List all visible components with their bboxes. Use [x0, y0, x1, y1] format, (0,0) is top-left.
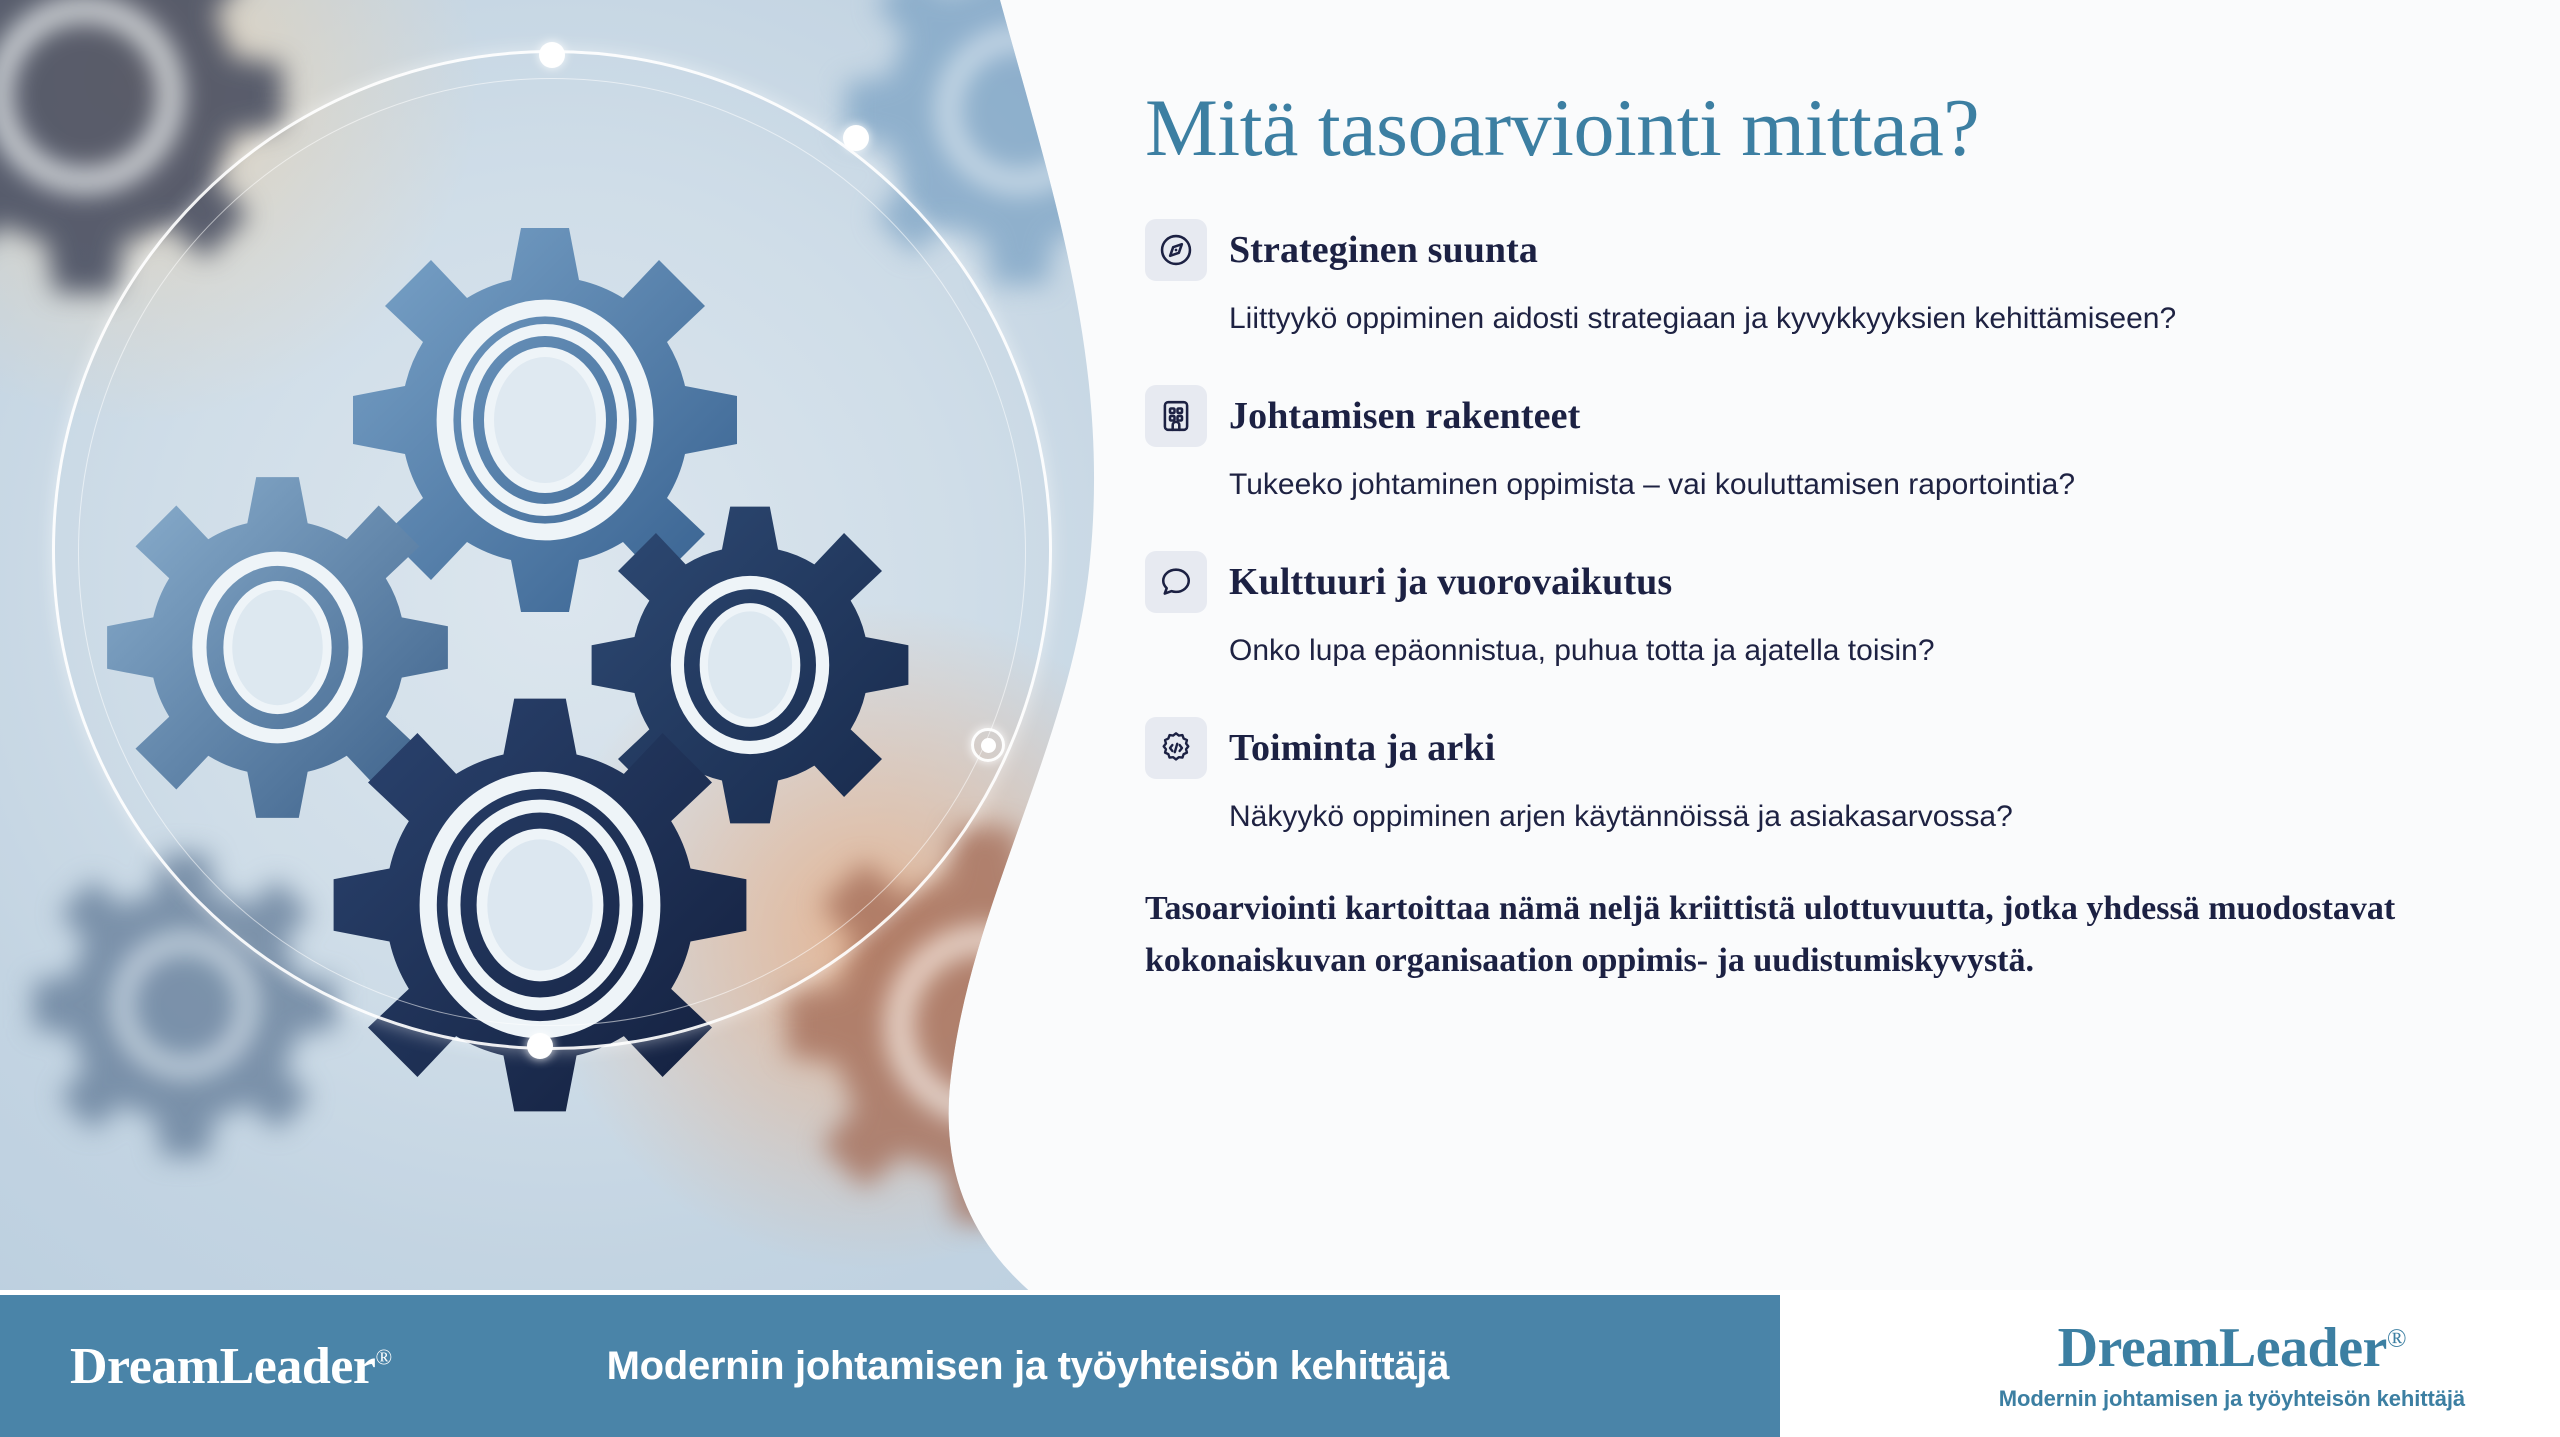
logo-subtitle: Modernin johtamisen ja työyhteisön kehit…	[1999, 1386, 2465, 1412]
orbit-ring-inner	[78, 78, 1026, 1026]
list-item[interactable]: Toiminta ja arki Näkyykö oppiminen arjen…	[1145, 717, 2485, 836]
orbit-node-bottom	[527, 1033, 553, 1059]
dreamleader-logo: DreamLeader® Modernin johtamisen ja työy…	[1999, 1316, 2465, 1412]
compass-icon	[1145, 219, 1207, 281]
list-item[interactable]: Johtamisen rakenteet Tukeeko johtaminen …	[1145, 385, 2485, 504]
logo-name: DreamLeader®	[1999, 1316, 2465, 1380]
list-item-description: Näkyykö oppiminen arjen käytännöissä ja …	[1229, 797, 2485, 836]
list-item-description: Tukeeko johtaminen oppimista – vai koulu…	[1229, 465, 2485, 504]
list-item-header: Kulttuuri ja vuorovaikutus	[1145, 551, 2485, 613]
summary-paragraph: Tasoarviointi kartoittaa nämä neljä krii…	[1145, 883, 2455, 986]
dimension-list: Strateginen suunta Liittyykö oppiminen a…	[1145, 219, 2485, 836]
footer-tagline: Modernin johtamisen ja työyhteisön kehit…	[607, 1344, 1450, 1389]
footer: DreamLeader® Modernin johtamisen ja työy…	[0, 1290, 2560, 1437]
list-item-title: Johtamisen rakenteet	[1229, 394, 1580, 438]
list-item-description: Onko lupa epäonnistua, puhua totta ja aj…	[1229, 631, 2485, 670]
logo-registered-mark-icon: ®	[2387, 1323, 2406, 1352]
slide-root: Mitä tasoarviointi mittaa? Strateginen s…	[0, 0, 2560, 1437]
list-item-title: Kulttuuri ja vuorovaikutus	[1229, 560, 1672, 604]
speech-bubble-icon	[1145, 551, 1207, 613]
building-icon	[1145, 385, 1207, 447]
page-title: Mitä tasoarviointi mittaa?	[1145, 85, 2485, 171]
orbit-node-right	[971, 728, 1005, 762]
list-item-header: Johtamisen rakenteet	[1145, 385, 2485, 447]
list-item-description: Liittyykö oppiminen aidosti strategiaan …	[1229, 299, 2485, 338]
footer-brand-text: DreamLeader	[70, 1338, 375, 1395]
orbit-node-upper-right	[843, 125, 869, 151]
gears-illustration-panel	[0, 0, 1120, 1300]
list-item[interactable]: Kulttuuri ja vuorovaikutus Onko lupa epä…	[1145, 551, 2485, 670]
logo-name-text: DreamLeader	[2058, 1317, 2387, 1379]
registered-mark-icon: ®	[375, 1344, 391, 1369]
content-column: Mitä tasoarviointi mittaa? Strateginen s…	[1145, 0, 2485, 1290]
footer-brand-name: DreamLeader®	[70, 1337, 392, 1396]
list-item-title: Strateginen suunta	[1229, 228, 1538, 272]
gear-code-icon	[1145, 717, 1207, 779]
footer-brand-bar: DreamLeader® Modernin johtamisen ja työy…	[0, 1295, 1780, 1437]
list-item-title: Toiminta ja arki	[1229, 726, 1495, 770]
orbit-node-top	[539, 42, 565, 68]
list-item-header: Strateginen suunta	[1145, 219, 2485, 281]
list-item[interactable]: Strateginen suunta Liittyykö oppiminen a…	[1145, 219, 2485, 338]
list-item-header: Toiminta ja arki	[1145, 717, 2485, 779]
